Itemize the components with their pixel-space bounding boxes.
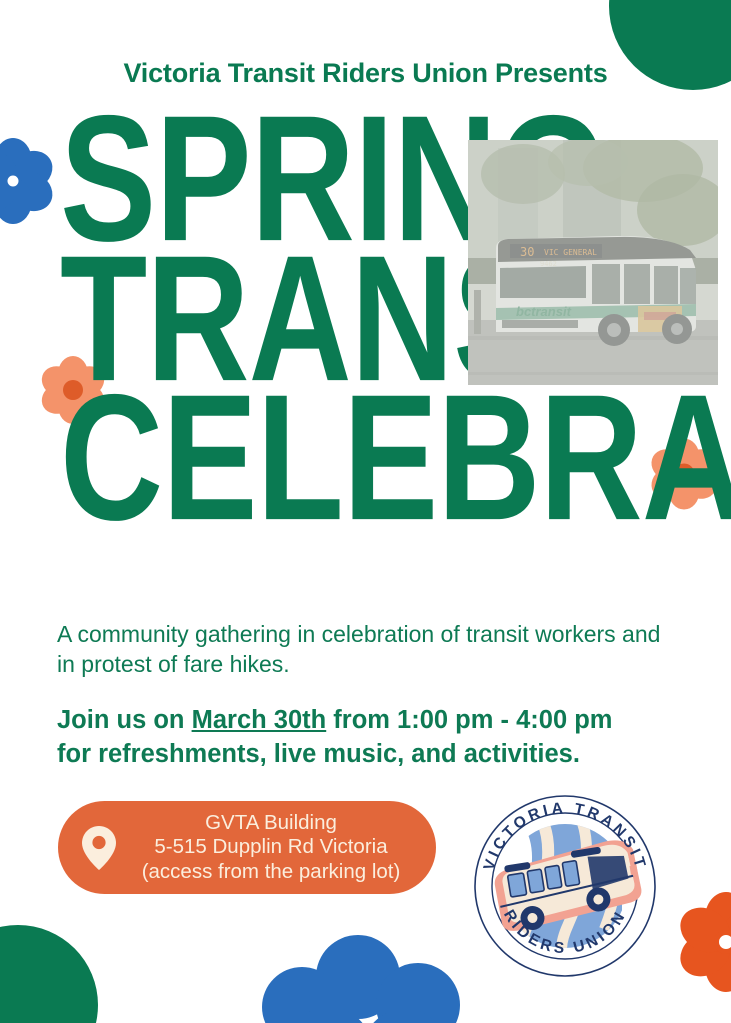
when-date: March 30th bbox=[192, 706, 327, 734]
svg-text:30: 30 bbox=[520, 245, 534, 259]
headline-line-3: CELEBRATION bbox=[60, 387, 731, 530]
description-text: A community gathering in celebration of … bbox=[57, 620, 677, 680]
poster-canvas: Victoria Transit Riders Union Presents S… bbox=[0, 0, 731, 1023]
when-prefix: Join us on bbox=[57, 706, 192, 734]
blue-flower-left-icon bbox=[0, 138, 56, 224]
bus-photo-image: 30 VIC GENERAL 9462 bctransit bbox=[468, 140, 718, 385]
bus-photo: 30 VIC GENERAL 9462 bctransit bbox=[468, 140, 718, 385]
when-line2: for refreshments, live music, and activi… bbox=[57, 740, 580, 768]
address-pill[interactable]: GVTA Building 5-515 Dupplin Rd Victoria … bbox=[58, 801, 436, 894]
orange-flower-bottom-right-icon bbox=[676, 892, 731, 992]
union-logo: VICTORIA TRANSIT RIDERS UNION bbox=[472, 793, 658, 979]
when-suffix: from 1:00 pm - 4:00 pm bbox=[326, 706, 612, 734]
address-street: 5-515 Dupplin Rd Victoria bbox=[154, 835, 387, 858]
address-text: GVTA Building 5-515 Dupplin Rd Victoria … bbox=[124, 811, 418, 884]
map-pin-icon bbox=[80, 825, 118, 871]
address-venue: GVTA Building bbox=[205, 811, 337, 834]
green-quarter-circle-bottom-left-icon bbox=[0, 925, 98, 1023]
svg-text:bctransit: bctransit bbox=[516, 304, 572, 319]
blue-cloud-bottom-center-icon bbox=[258, 929, 478, 1023]
event-details-text: Join us on March 30th from 1:00 pm - 4:0… bbox=[57, 704, 697, 771]
svg-text:VIC GENERAL: VIC GENERAL bbox=[544, 248, 597, 257]
address-note: (access from the parking lot) bbox=[142, 860, 401, 883]
